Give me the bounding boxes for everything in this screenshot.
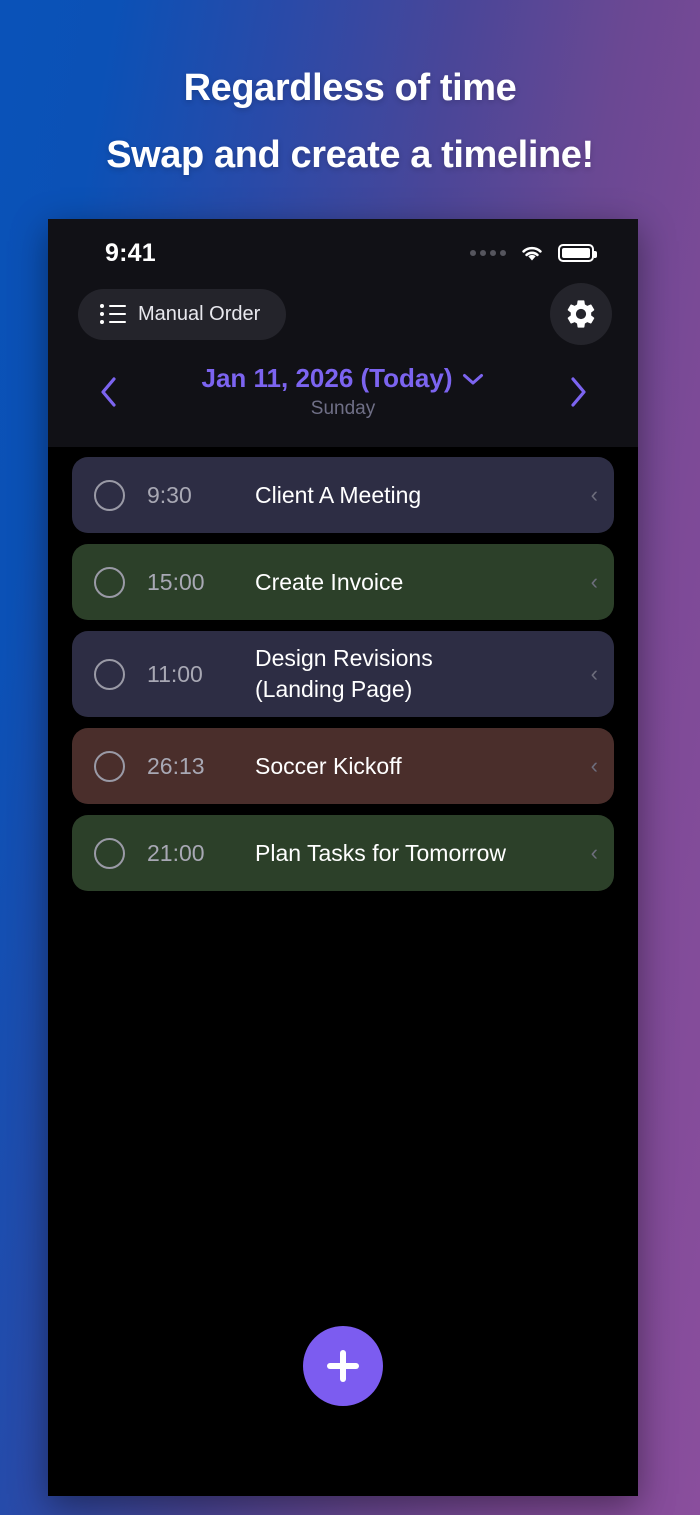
list-order-icon: [100, 304, 126, 324]
date-display[interactable]: Jan 11, 2026 (Today) Sunday: [130, 363, 556, 420]
add-task-button[interactable]: [303, 1326, 383, 1406]
app-header: 9:41 Manual Order: [48, 219, 638, 447]
task-time: 15:00: [147, 569, 247, 596]
status-bar-icons: [470, 244, 594, 263]
signal-dots-icon: [470, 250, 506, 256]
task-time: 21:00: [147, 840, 247, 867]
task-time: 26:13: [147, 753, 247, 780]
task-row[interactable]: 26:13Soccer Kickoff‹: [72, 728, 614, 804]
task-checkbox-circle-icon[interactable]: [94, 838, 125, 869]
task-row[interactable]: 9:30Client A Meeting‹: [72, 457, 614, 533]
task-row[interactable]: 15:00Create Invoice‹: [72, 544, 614, 620]
chevron-right-icon: [567, 375, 589, 409]
task-title: Soccer Kickoff: [255, 751, 585, 782]
task-drag-handle-icon[interactable]: ‹: [585, 482, 598, 508]
status-bar-time: 9:41: [105, 239, 156, 268]
task-title: Plan Tasks for Tomorrow: [255, 838, 585, 869]
task-drag-handle-icon[interactable]: ‹: [585, 569, 598, 595]
chevron-left-icon: [97, 375, 119, 409]
task-checkbox-circle-icon[interactable]: [94, 567, 125, 598]
date-navigation: Jan 11, 2026 (Today) Sunday: [48, 345, 638, 420]
task-row[interactable]: 11:00Design Revisions(Landing Page)‹: [72, 631, 614, 717]
task-drag-handle-icon[interactable]: ‹: [585, 753, 598, 779]
settings-button[interactable]: [550, 283, 612, 345]
gear-icon: [564, 297, 598, 331]
phone-mockup: 9:41 Manual Order: [48, 219, 638, 1496]
task-time: 9:30: [147, 482, 247, 509]
task-checkbox-circle-icon[interactable]: [94, 751, 125, 782]
task-checkbox-circle-icon[interactable]: [94, 480, 125, 511]
task-title: Create Invoice: [255, 567, 585, 598]
plus-icon-vertical: [340, 1350, 346, 1382]
promo-line-2: Swap and create a timeline!: [0, 129, 700, 181]
promo-headline: Regardless of time Swap and create a tim…: [0, 62, 700, 181]
promo-line-1: Regardless of time: [0, 62, 700, 114]
task-time: 11:00: [147, 661, 247, 688]
prev-day-button[interactable]: [86, 370, 130, 414]
weekday-label: Sunday: [130, 398, 556, 420]
task-title: Design Revisions(Landing Page): [255, 643, 585, 705]
task-title: Client A Meeting: [255, 480, 585, 511]
task-row[interactable]: 21:00Plan Tasks for Tomorrow‹: [72, 815, 614, 891]
chevron-down-icon: [462, 372, 484, 386]
task-drag-handle-icon[interactable]: ‹: [585, 840, 598, 866]
task-drag-handle-icon[interactable]: ‹: [585, 661, 598, 687]
status-bar: 9:41: [48, 219, 638, 277]
wifi-icon: [519, 244, 545, 263]
manual-order-label: Manual Order: [138, 303, 260, 326]
next-day-button[interactable]: [556, 370, 600, 414]
manual-order-button[interactable]: Manual Order: [78, 289, 286, 340]
app-toolbar: Manual Order: [48, 277, 638, 345]
battery-full-icon: [558, 244, 594, 262]
task-list: 9:30Client A Meeting‹15:00Create Invoice…: [48, 447, 638, 891]
date-label: Jan 11, 2026 (Today): [202, 363, 453, 394]
date-selector[interactable]: Jan 11, 2026 (Today): [202, 363, 485, 394]
task-checkbox-circle-icon[interactable]: [94, 659, 125, 690]
